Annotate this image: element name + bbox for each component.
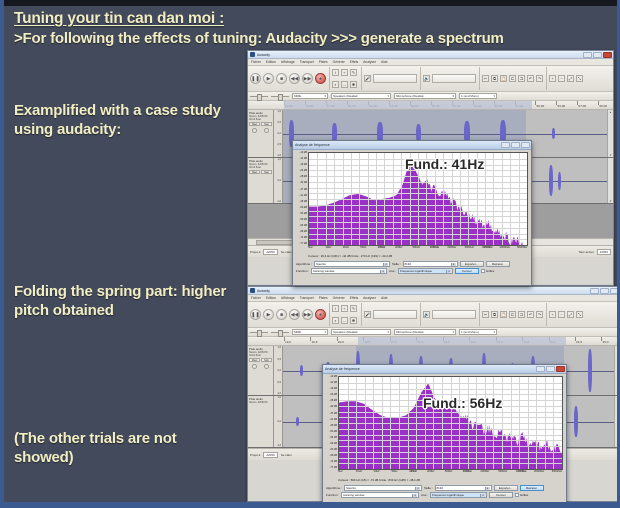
paste-icon[interactable]: 📋 (500, 311, 507, 318)
minimize-icon[interactable] (501, 142, 510, 148)
minimize-icon[interactable] (536, 366, 545, 372)
audio-host-combo[interactable]: MME▾ (292, 93, 328, 99)
play-icon[interactable]: ▶ (263, 309, 274, 320)
db-tick-label: -45 dB (300, 201, 307, 204)
stop-icon[interactable]: ■ (276, 309, 287, 320)
playback-meter-group[interactable]: 🔊 (423, 303, 480, 326)
gridline-horizontal (339, 440, 562, 441)
menu-item-analyser[interactable]: Analyser (363, 296, 376, 300)
fit-selection-icon[interactable]: ⤢ (567, 75, 574, 82)
db-tick-label: -68 dB (330, 455, 337, 458)
zoom-out-icon[interactable]: − (558, 311, 565, 318)
input-channels-combo[interactable]: 1 (and Mono)▾ (459, 93, 497, 99)
grids-checkbox[interactable]: Grilles (481, 269, 494, 273)
track-rate: Stéréo, 22050Hz (249, 401, 272, 404)
audacity-logo-icon (250, 288, 255, 293)
menu-item-pistes[interactable]: Pistes (319, 60, 328, 64)
gridline-horizontal (309, 234, 527, 235)
zoom-in-icon[interactable]: + (549, 75, 556, 82)
play-icon[interactable]: ▶ (263, 73, 274, 84)
freq-tick-label: 10Hz (325, 246, 331, 249)
edit-toolbar[interactable]: ✂ ⧉ 📋 ⊏ ⊐ ↶ ↷ (482, 303, 547, 326)
zoom-toolbar[interactable]: + − ⤢ ⤡ (549, 67, 586, 90)
gridline-horizontal (339, 463, 562, 464)
freq-tick-label: 50Hz (360, 246, 366, 249)
grids-label: Grilles (520, 493, 528, 497)
multi-tool-icon[interactable]: ✱ (350, 317, 357, 324)
window-titlebar[interactable]: Audacity (248, 51, 613, 59)
project-rate-value[interactable]: 22050 (263, 452, 277, 458)
grids-label: Grilles (486, 269, 494, 273)
gridline-horizontal (339, 446, 562, 447)
frequency-axis-labels: 5Hz10Hz20Hz50Hz100Hz200Hz500Hz1000Hz2000… (338, 470, 566, 477)
playback-meter-group[interactable]: 🔊 (423, 67, 480, 90)
track-control-panel[interactable]: Piste audio Stéréo, 22050Hz 32-bit float… (248, 158, 274, 203)
replot-button[interactable]: Retracer (486, 261, 510, 267)
gain-slider[interactable] (252, 364, 257, 369)
gridline-horizontal (309, 222, 527, 223)
minimize-icon[interactable] (583, 52, 592, 58)
dialog-title: Analyse de fréquence (295, 143, 330, 147)
function-label: Fonction : (296, 269, 309, 273)
dialog-title: Analyse de fréquence (325, 367, 360, 371)
size-label: Taille : (392, 262, 401, 266)
replot-button[interactable]: Retracer (520, 485, 544, 491)
draw-tool-icon[interactable]: ✎ (350, 69, 357, 76)
track-format: 32-bit float (249, 166, 272, 169)
track-control-panel[interactable]: Piste audio Stéréo, 22050Hz (248, 396, 274, 447)
menu-item-edition[interactable]: Edition (266, 60, 276, 64)
spectrum-plot[interactable] (338, 376, 563, 470)
freq-tick-label: 10Hz (356, 470, 362, 473)
ruler-label: 53,00 (557, 104, 565, 108)
db-tick-label: -14 dB (330, 382, 337, 385)
window-title: Audacity (257, 289, 270, 293)
gridline-horizontal (339, 389, 562, 390)
track-control-panel[interactable]: Piste audio Stéréo, 22050Hz 32-bit float… (248, 346, 274, 395)
zoom-in-icon[interactable]: + (549, 311, 556, 318)
gridline-horizontal (309, 188, 527, 189)
gridline-horizontal (339, 412, 562, 413)
freq-tick-label: 200Hz (427, 470, 435, 473)
waveform-peak (300, 365, 303, 376)
menu-item-transport[interactable]: Transport (300, 60, 314, 64)
project-rate-label: Projet à (250, 250, 260, 254)
freq-tick-label: 5000Hz (498, 470, 507, 473)
frequency-axis-labels: 5Hz10Hz20Hz50Hz100Hz200Hz500Hz1000Hz2000… (308, 246, 531, 253)
skip-to-start-icon[interactable]: ◀◀ (289, 73, 300, 84)
freq-tick-label: 100Hz (409, 470, 417, 473)
current-rate-label: Taux actuel (578, 250, 593, 254)
checkbox-icon[interactable] (481, 269, 485, 273)
close-icon[interactable] (556, 366, 565, 372)
db-tick-label: -23 dB (300, 170, 307, 173)
db-tick-label: -32 dB (330, 406, 337, 409)
fit-selection-icon[interactable]: ⤢ (567, 311, 574, 318)
axis-select[interactable]: Fréquence logarithmique▾ (398, 268, 453, 274)
track-format: 32-bit float (249, 118, 272, 121)
db-tick-label: -14 dB (300, 158, 307, 161)
waveform-peak (558, 172, 561, 190)
db-tick-label: -19 dB (300, 164, 307, 167)
maximize-icon[interactable] (600, 288, 609, 294)
freq-tick-label: 10000Hz (516, 470, 526, 473)
timeline-ruler[interactable]: 10,0013,0017,0020,0023,0027,0030,0033,00… (248, 101, 613, 110)
gridline-horizontal (309, 176, 527, 177)
db-tick-label: -63 dB (300, 225, 307, 228)
menu-item-fichier[interactable]: Fichier (251, 296, 261, 300)
size-select[interactable]: 8192▾ (403, 261, 458, 267)
zoom-toolbar[interactable]: + − ⤢ ⤡ (549, 303, 586, 326)
db-tick-label: -10 dB (330, 376, 337, 379)
maximize-icon[interactable] (546, 366, 555, 372)
close-button[interactable]: Fermer (455, 268, 479, 274)
dialog-titlebar[interactable]: Analyse de fréquence (293, 141, 531, 150)
transport-toolbar[interactable]: ❚❚ ▶ ■ ◀◀ ▶▶ ● I ⌁ ✎ ⌕ ↔ ✱ 🎤 🔊 (248, 66, 613, 92)
vertical-scrollbar[interactable]: ▴▾ (614, 346, 620, 395)
track-format: 32-bit float (249, 354, 272, 357)
maximize-icon[interactable] (511, 142, 520, 148)
window-controls[interactable] (536, 366, 565, 372)
record-icon[interactable]: ● (315, 73, 326, 84)
selection-tool-icon[interactable]: I (332, 305, 339, 312)
db-tick-label: -41 dB (300, 195, 307, 198)
db-tick-label: -63 dB (330, 449, 337, 452)
db-tick-label: -32 dB (300, 182, 307, 185)
gridline-horizontal (309, 193, 527, 194)
ruler-label: 57,00 (578, 104, 586, 108)
close-icon[interactable] (521, 142, 530, 148)
db-tick-label: -59 dB (330, 443, 337, 446)
freq-tick-label: 2000Hz (481, 470, 490, 473)
playback-meter[interactable] (432, 310, 476, 319)
gridline-horizontal (309, 211, 527, 212)
fit-project-icon[interactable]: ⤡ (576, 75, 583, 82)
close-icon[interactable] (610, 288, 619, 294)
device-toolbar[interactable]: MME▾ Speakers (Realtek▾ Microphone (Real… (248, 92, 613, 101)
snap-to-label: Se caler (281, 250, 292, 254)
freq-tick-label: 1000Hz (430, 246, 439, 249)
vertical-scrollbar[interactable]: ▾ (607, 158, 613, 203)
gridline-horizontal (309, 239, 527, 240)
skip-to-end-icon[interactable]: ▶▶ (302, 73, 313, 84)
db-tick-label: -72 dB (300, 237, 307, 240)
project-rate-value[interactable]: 22050 (263, 249, 277, 255)
silence-icon[interactable]: ⊐ (518, 311, 525, 318)
menu-item-generer[interactable]: Générer (333, 60, 345, 64)
db-tick-label: -77 dB (330, 467, 337, 470)
skip-to-start-icon[interactable]: ◀◀ (289, 309, 300, 320)
mute-button[interactable]: Muet (249, 170, 260, 174)
speaker-level-icon[interactable]: 🔊 (423, 311, 430, 318)
freq-tick-label: 5000Hz (465, 246, 474, 249)
pause-icon[interactable]: ❚❚ (250, 73, 261, 84)
gain-slider[interactable] (252, 128, 257, 133)
slide-text-other-trials: (The other trials are not showed) (14, 430, 229, 468)
dialog-titlebar[interactable]: Analyse de fréquence (323, 365, 566, 374)
gridline-horizontal (339, 423, 562, 424)
menu-item-aide[interactable]: Aide (381, 296, 388, 300)
freq-tick-label: 500Hz (445, 470, 453, 473)
window-controls[interactable] (590, 288, 619, 294)
size-select[interactable]: 8192▾ (435, 485, 492, 491)
db-tick-label: -50 dB (300, 207, 307, 210)
trim-icon[interactable]: ⊏ (509, 75, 516, 82)
algorithm-select[interactable]: Spectre▾ (344, 485, 422, 491)
multi-tool-icon[interactable]: ✱ (350, 81, 357, 88)
function-label: Fonction : (326, 493, 339, 497)
slide-text-folding: Folding the spring part: higher pitch ob… (14, 283, 229, 321)
envelope-tool-icon[interactable]: ⌁ (341, 305, 348, 312)
ruler-label: 25,0 (602, 340, 608, 344)
freq-tick-label: 10000Hz (482, 246, 492, 249)
draw-tool-icon[interactable]: ✎ (350, 305, 357, 312)
gridline-horizontal (309, 228, 527, 229)
output-device-combo[interactable]: Speakers (Realtek▾ (331, 329, 391, 335)
pan-slider[interactable] (264, 364, 269, 369)
solo-button[interactable]: Solo (261, 122, 272, 126)
copy-icon[interactable]: ⧉ (491, 311, 498, 318)
window-titlebar[interactable]: Audacity (248, 287, 620, 295)
record-icon[interactable]: ● (315, 309, 326, 320)
track-vertical-ruler: 1,0 0,0 -1,0 (274, 396, 283, 447)
export-button[interactable]: Exporter... (494, 485, 518, 491)
envelope-tool-icon[interactable]: ⌁ (341, 69, 348, 76)
slide-top-bar (4, 0, 617, 6)
selection-tool-icon[interactable]: I (332, 69, 339, 76)
db-tick-label: -54 dB (300, 213, 307, 216)
freq-tick-label: 2000Hz (447, 246, 456, 249)
menu-bar[interactable]: Fichier Edition Affichage Transport Pist… (248, 295, 620, 302)
copy-icon[interactable]: ⧉ (491, 75, 498, 82)
freq-tick-label: 20000Hz (534, 470, 544, 473)
redo-icon[interactable]: ↷ (536, 75, 543, 82)
input-device-combo[interactable]: Microphone (Realtek▾ (394, 329, 456, 335)
gridline-horizontal (339, 435, 562, 436)
zoom-tool-icon[interactable]: ⌕ (332, 81, 339, 88)
db-tick-label: -23 dB (330, 394, 337, 397)
slide-text-case-study: Examplified with a case study using auda… (14, 102, 229, 140)
gridline-horizontal (339, 429, 562, 430)
function-select[interactable]: Hanning window▾ (341, 492, 419, 498)
axis-label: Axe : (389, 269, 396, 273)
freq-tick-label: 20Hz (374, 470, 380, 473)
algorithm-label: Algorithme : (296, 262, 312, 266)
menu-item-pistes[interactable]: Pistes (319, 296, 328, 300)
transport-buttons-group[interactable]: ❚❚ ▶ ■ ◀◀ ▶▶ ● (250, 303, 330, 326)
recording-meter[interactable] (373, 310, 417, 319)
input-volume-slider[interactable] (250, 93, 268, 100)
mute-button[interactable]: Muet (249, 122, 260, 126)
export-button[interactable]: Exporter... (460, 261, 484, 267)
freq-tick-label: 5Hz (338, 470, 343, 473)
page-title: Tuning your tin can dan moi : (14, 9, 224, 28)
transport-toolbar[interactable]: ❚❚ ▶ ■ ◀◀ ▶▶ ● I ⌁ ✎ ⌕ ↔ ✱ 🎤 🔊 (248, 302, 620, 328)
db-tick-label: -50 dB (330, 431, 337, 434)
pause-icon[interactable]: ❚❚ (250, 309, 261, 320)
grids-checkbox[interactable]: Grilles (515, 493, 528, 497)
ruler-label: 20,0 (338, 340, 344, 344)
freq-tick-label: 50Hz (391, 470, 397, 473)
axis-select[interactable]: Fréquence logarithmique▾ (430, 492, 487, 498)
freq-tick-label: 100Hz (378, 246, 386, 249)
ruler-label: 24,5 (576, 340, 582, 344)
stop-icon[interactable]: ■ (276, 73, 287, 84)
edit-toolbar[interactable]: ✂ ⧉ 📋 ⊏ ⊐ ↶ ↷ (482, 67, 547, 90)
input-volume-slider[interactable] (250, 329, 268, 336)
skip-to-end-icon[interactable]: ▶▶ (302, 309, 313, 320)
timeshift-tool-icon[interactable]: ↔ (341, 317, 348, 324)
menu-item-analyser[interactable]: Analyser (363, 60, 376, 64)
timeshift-tool-icon[interactable]: ↔ (341, 81, 348, 88)
vertical-scrollbar[interactable]: ▴▾ (607, 110, 613, 157)
axis-label: Axe : (421, 493, 428, 497)
size-label: Taille : (424, 486, 433, 490)
db-tick-label: -68 dB (300, 231, 307, 234)
frequency-analysis-window-2[interactable]: Analyse de fréquence -10 dB-14 dB-19 dB-… (322, 364, 567, 506)
window-title: Audacity (257, 53, 270, 57)
waveform-peak (296, 417, 299, 425)
tools-toolbar[interactable]: I ⌁ ✎ ⌕ ↔ ✱ (332, 67, 362, 90)
db-tick-label: -59 dB (300, 219, 307, 222)
recording-meter-group[interactable]: 🎤 (364, 67, 421, 90)
ruler-selection[interactable] (284, 101, 532, 109)
db-axis-labels: -10 dB-14 dB-19 dB-23 dB-28 dB-32 dB-37 … (325, 376, 338, 470)
db-tick-label: -37 dB (330, 413, 337, 416)
tools-toolbar[interactable]: I ⌁ ✎ ⌕ ↔ ✱ (332, 303, 362, 326)
paste-icon[interactable]: 📋 (500, 75, 507, 82)
db-tick-label: -54 dB (330, 437, 337, 440)
input-device-combo[interactable]: Microphone (Realtek▾ (394, 93, 456, 99)
db-tick-label: -37 dB (300, 189, 307, 192)
freq-tick-label: 50000Hz (517, 246, 527, 249)
db-tick-label: -10 dB (300, 152, 307, 155)
silence-icon[interactable]: ⊐ (518, 75, 525, 82)
mic-level-icon[interactable]: 🎤 (364, 75, 371, 82)
frequency-analysis-window-1[interactable]: Analyse de fréquence -10 dB-14 dB-19 dB-… (292, 140, 532, 286)
menu-item-edition[interactable]: Edition (266, 296, 276, 300)
minimize-icon[interactable] (590, 288, 599, 294)
close-icon[interactable] (603, 52, 612, 58)
ruler-selection[interactable] (358, 337, 566, 345)
snap-to-label: Se caler (281, 453, 292, 457)
track-vertical-ruler: 1,0 0,5 0,0 -0,5 -1,0 (274, 110, 283, 157)
track-vertical-ruler: 1,0 0,5 0,0 -0,5 -1,0 (274, 346, 283, 395)
mute-button[interactable]: Muet (249, 358, 260, 362)
output-volume-slider[interactable] (271, 93, 289, 100)
ruler-label: 19,0 (285, 340, 291, 344)
fit-project-icon[interactable]: ⤡ (576, 311, 583, 318)
freq-tick-label: 200Hz (395, 246, 403, 249)
undo-icon[interactable]: ↶ (527, 75, 534, 82)
db-tick-label: -41 dB (330, 419, 337, 422)
db-axis-labels: -10 dB-14 dB-19 dB-23 dB-28 dB-32 dB-37 … (295, 152, 308, 246)
track-vertical-ruler: 1,0 0,0 -1,0 (274, 158, 283, 203)
playback-meter[interactable] (432, 74, 476, 83)
menu-item-generer[interactable]: Générer (333, 296, 345, 300)
menu-item-affichage[interactable]: Affichage (281, 296, 295, 300)
gridline-horizontal (309, 205, 527, 206)
dialog-controls[interactable]: Algorithme : Spectre▾ Taille : 8192▾ Exp… (323, 482, 566, 500)
function-select[interactable]: Hanning window▾ (311, 268, 387, 274)
gridline-horizontal (309, 216, 527, 217)
close-button[interactable]: Fermer (489, 492, 513, 498)
vertical-scrollbar[interactable]: ▾ (614, 396, 620, 447)
menu-item-aide[interactable]: Aide (381, 60, 388, 64)
audacity-logo-icon (250, 52, 255, 57)
db-tick-label: -28 dB (330, 400, 337, 403)
menu-item-fichier[interactable]: Fichier (251, 60, 261, 64)
freq-tick-label: 50000Hz (552, 470, 562, 473)
device-toolbar[interactable]: MME▾ Speakers (Realtek▾ Microphone (Real… (248, 328, 620, 337)
menu-item-effets[interactable]: Effets (350, 60, 358, 64)
menu-item-affichage[interactable]: Affichage (281, 60, 295, 64)
output-device-combo[interactable]: Speakers (Realtek▾ (331, 93, 391, 99)
waveform-peak (588, 349, 592, 391)
timeline-ruler[interactable]: 19,019,520,020,521,021,522,022,523,023,5… (248, 337, 620, 346)
fundamental-annotation: Fund.: 56Hz (423, 395, 502, 411)
maximize-icon[interactable] (593, 52, 602, 58)
transport-buttons-group[interactable]: ❚❚ ▶ ■ ◀◀ ▶▶ ● (250, 67, 330, 90)
output-volume-slider[interactable] (271, 329, 289, 336)
zoom-tool-icon[interactable]: ⌕ (332, 317, 339, 324)
ruler-label: 19,5 (311, 340, 317, 344)
gridline-horizontal (339, 383, 562, 384)
solo-button[interactable]: Solo (261, 358, 272, 362)
gridline-horizontal (339, 458, 562, 459)
waveform-peak (552, 128, 555, 138)
algorithm-select[interactable]: Spectre▾ (314, 261, 390, 267)
track-control-panel[interactable]: Piste audio Stéréo, 22050Hz 32-bit float… (248, 110, 274, 157)
freq-tick-label: 500Hz (413, 246, 421, 249)
fundamental-annotation: Fund.: 41Hz (405, 156, 484, 172)
window-controls[interactable] (583, 52, 612, 58)
algorithm-label: Algorithme : (326, 486, 342, 490)
dialog-controls[interactable]: Algorithme : Spectre▾ Taille : 8192▾ Exp… (293, 258, 531, 276)
db-tick-label: -45 dB (330, 425, 337, 428)
recording-meter[interactable] (373, 74, 417, 83)
audio-host-combo[interactable]: MME▾ (292, 329, 328, 335)
speaker-level-icon[interactable]: 🔊 (423, 75, 430, 82)
menu-item-transport[interactable]: Transport (300, 296, 314, 300)
cut-icon[interactable]: ✂ (482, 311, 489, 318)
gridline-horizontal (339, 417, 562, 418)
checkbox-icon[interactable] (515, 493, 519, 497)
recording-meter-group[interactable]: 🎤 (364, 303, 421, 326)
pan-slider[interactable] (264, 128, 269, 133)
slide-subtitle: >For following the effects of tuning: Au… (14, 30, 614, 49)
waveform-peak (549, 165, 553, 197)
solo-button[interactable]: Solo (261, 170, 272, 174)
menu-bar[interactable]: Fichier Edition Affichage Transport Pist… (248, 59, 613, 66)
mic-level-icon[interactable]: 🎤 (364, 311, 371, 318)
undo-icon[interactable]: ↶ (527, 311, 534, 318)
gridline-horizontal (309, 199, 527, 200)
trim-icon[interactable]: ⊏ (509, 311, 516, 318)
db-tick-label: -77 dB (300, 243, 307, 246)
gridline-horizontal (309, 182, 527, 183)
ruler-label: 50,00 (536, 104, 544, 108)
input-channels-combo[interactable]: 1 (and Mono)▾ (459, 329, 497, 335)
current-rate-value: 22050 (597, 249, 611, 255)
window-controls[interactable] (501, 142, 530, 148)
freq-tick-label: 1000Hz (463, 470, 472, 473)
waveform-peak (574, 406, 578, 437)
redo-icon[interactable]: ↷ (536, 311, 543, 318)
menu-item-effets[interactable]: Effets (350, 296, 358, 300)
cut-icon[interactable]: ✂ (482, 75, 489, 82)
zoom-out-icon[interactable]: − (558, 75, 565, 82)
